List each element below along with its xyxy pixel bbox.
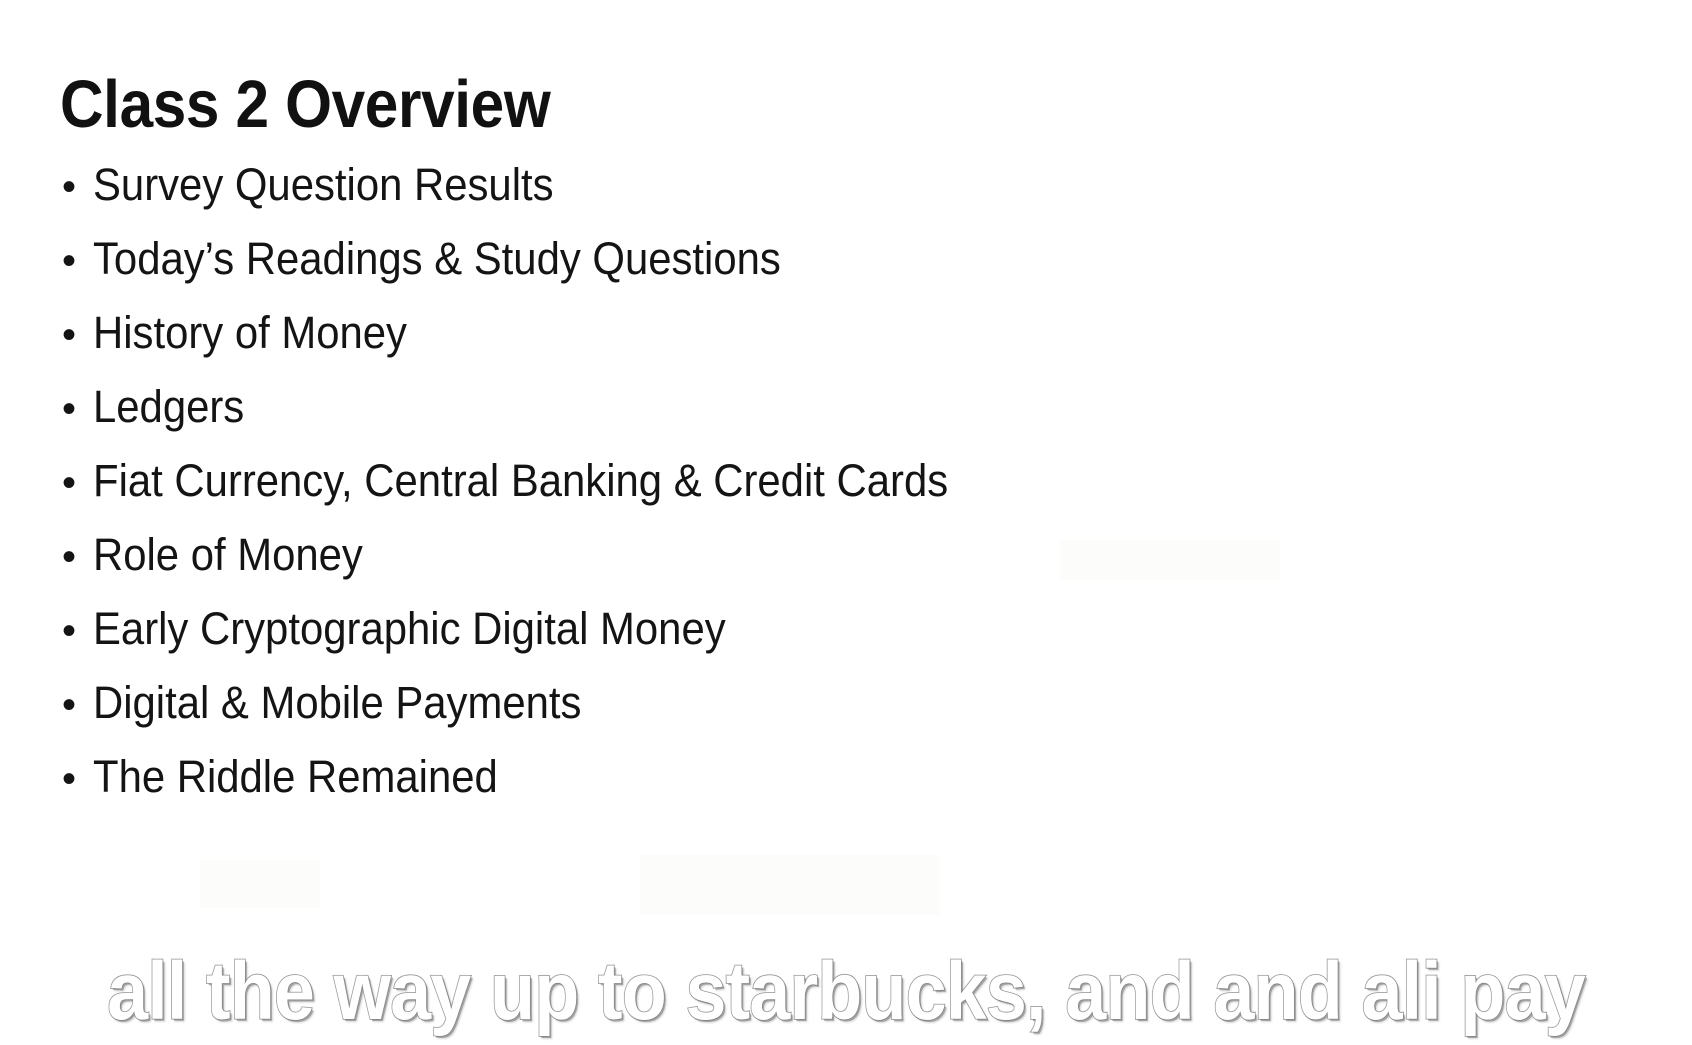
list-item-label: Survey Question Results (93, 148, 554, 222)
background-artifact (200, 860, 320, 908)
background-artifact (640, 855, 940, 915)
presentation-slide: Class 2 Overview • Survey Question Resul… (0, 0, 1692, 1045)
bullet-point-icon: • (62, 372, 93, 446)
bullet-point-icon: • (62, 668, 93, 742)
bullet-point-icon: • (62, 224, 93, 298)
list-item-label: Ledgers (93, 370, 244, 444)
bullet-point-icon: • (62, 594, 93, 668)
list-item: • The Riddle Remained (62, 740, 1622, 814)
bullet-point-icon: • (62, 742, 93, 816)
list-item-label: Digital & Mobile Payments (93, 666, 581, 740)
list-item: • Ledgers (62, 370, 1622, 444)
list-item: • Early Cryptographic Digital Money (62, 592, 1622, 666)
bullet-point-icon: • (62, 298, 93, 372)
list-item-label: History of Money (93, 296, 407, 370)
list-item-label: Early Cryptographic Digital Money (93, 592, 726, 666)
bullet-point-icon: • (62, 446, 93, 520)
list-item: • Digital & Mobile Payments (62, 666, 1622, 740)
list-item-label: Today’s Readings & Study Questions (93, 222, 781, 296)
list-item-label: The Riddle Remained (93, 740, 498, 814)
list-item-label: Role of Money (93, 518, 363, 592)
list-item: • History of Money (62, 296, 1622, 370)
caption-line: all the way up to starbucks, and and ali… (107, 951, 1585, 1033)
list-item: • Survey Question Results (62, 148, 1622, 222)
list-item: • Fiat Currency, Central Banking & Credi… (62, 444, 1622, 518)
page-title: Class 2 Overview (60, 69, 550, 141)
bullet-point-icon: • (62, 150, 93, 224)
list-item-label: Fiat Currency, Central Banking & Credit … (93, 444, 948, 518)
list-item: • Today’s Readings & Study Questions (62, 222, 1622, 296)
list-item: • Role of Money (62, 518, 1622, 592)
video-caption-overlay: all the way up to starbucks, and and ali… (0, 913, 1692, 1033)
bullet-point-icon: • (62, 520, 93, 594)
bullet-list: • Survey Question Results • Today’s Read… (62, 148, 1622, 814)
